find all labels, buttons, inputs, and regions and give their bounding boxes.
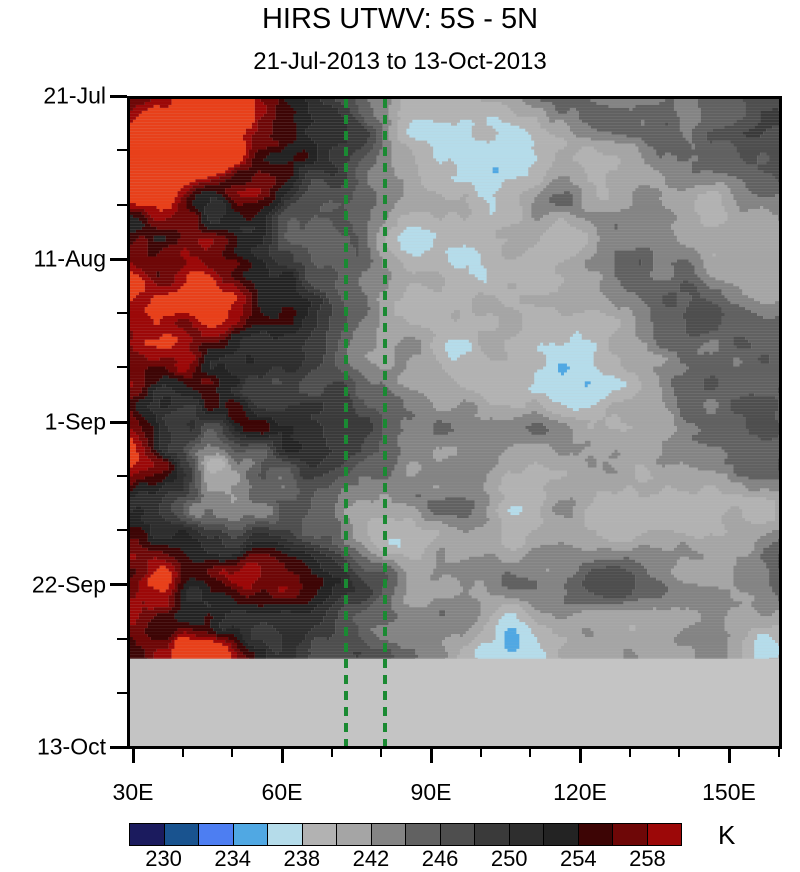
x-minor-tick bbox=[480, 749, 482, 757]
colorbar-swatch bbox=[233, 824, 268, 845]
colorbar-swatch bbox=[130, 824, 164, 845]
y-minor-tick bbox=[117, 204, 127, 206]
x-minor-tick bbox=[629, 749, 631, 757]
colorbar-swatch bbox=[440, 824, 475, 845]
colorbar[interactable] bbox=[129, 823, 682, 846]
y-tick-label-3: 22-Sep bbox=[0, 572, 106, 599]
y-major-tick bbox=[110, 583, 127, 586]
colorbar-swatch bbox=[612, 824, 647, 845]
colorbar-swatch bbox=[474, 824, 509, 845]
colorbar-tick-label: 246 bbox=[422, 846, 459, 872]
chart-subtitle: 21-Jul-2013 to 13-Oct-2013 bbox=[0, 48, 800, 76]
colorbar-swatch bbox=[302, 824, 337, 845]
x-tick-label-3: 120E bbox=[553, 779, 607, 806]
chart-figure: HIRS UTWV: 5S - 5N 21-Jul-2013 to 13-Oct… bbox=[0, 0, 800, 863]
colorbar-swatch bbox=[198, 824, 233, 845]
annotation-vline-2 bbox=[383, 99, 387, 746]
x-minor-tick bbox=[231, 749, 233, 757]
chart-title: HIRS UTWV: 5S - 5N bbox=[0, 3, 800, 36]
colorbar-swatch bbox=[405, 824, 440, 845]
x-major-tick bbox=[728, 749, 731, 763]
colorbar-swatch bbox=[509, 824, 544, 845]
contour-field bbox=[130, 99, 779, 746]
x-tick-label-0: 30E bbox=[113, 779, 154, 806]
y-major-tick bbox=[110, 421, 127, 424]
x-tick-label-2: 90E bbox=[411, 779, 452, 806]
y-tick-label-1: 11-Aug bbox=[0, 246, 106, 273]
y-minor-tick bbox=[117, 366, 127, 368]
x-minor-tick bbox=[529, 749, 531, 757]
y-major-tick bbox=[110, 258, 127, 261]
y-major-tick bbox=[110, 95, 127, 98]
y-minor-tick bbox=[117, 529, 127, 531]
x-major-tick bbox=[430, 749, 433, 763]
colorbar-swatch bbox=[543, 824, 578, 845]
colorbar-tick-label: 234 bbox=[214, 846, 251, 872]
x-minor-tick bbox=[778, 749, 780, 757]
colorbar-swatch bbox=[578, 824, 613, 845]
x-minor-tick bbox=[678, 749, 680, 757]
colorbar-unit-label: K bbox=[718, 820, 735, 851]
colorbar-swatch bbox=[267, 824, 302, 845]
y-minor-tick bbox=[117, 149, 127, 151]
x-minor-tick bbox=[331, 749, 333, 757]
plot-area[interactable] bbox=[127, 96, 782, 749]
x-major-tick bbox=[579, 749, 582, 763]
y-major-tick bbox=[110, 746, 127, 749]
x-major-tick bbox=[132, 749, 135, 763]
y-minor-tick bbox=[117, 312, 127, 314]
colorbar-tick-label: 242 bbox=[353, 846, 390, 872]
colorbar-swatch bbox=[371, 824, 406, 845]
x-minor-tick bbox=[182, 749, 184, 757]
colorbar-tick-label: 238 bbox=[283, 846, 320, 872]
colorbar-swatch bbox=[647, 824, 682, 845]
y-tick-label-4: 13-Oct bbox=[0, 734, 106, 761]
colorbar-tick-label: 230 bbox=[145, 846, 182, 872]
y-minor-tick bbox=[117, 475, 127, 477]
colorbar-tick-label: 250 bbox=[491, 846, 528, 872]
x-tick-label-1: 60E bbox=[262, 779, 303, 806]
colorbar-swatch bbox=[164, 824, 199, 845]
colorbar-tick-label: 254 bbox=[560, 846, 597, 872]
colorbar-tick-label: 258 bbox=[629, 846, 666, 872]
x-major-tick bbox=[281, 749, 284, 763]
annotation-vline-1 bbox=[344, 99, 348, 746]
y-tick-label-2: 1-Sep bbox=[0, 409, 106, 436]
colorbar-swatch bbox=[336, 824, 371, 845]
y-minor-tick bbox=[117, 692, 127, 694]
x-minor-tick bbox=[380, 749, 382, 757]
x-tick-label-4: 150E bbox=[702, 779, 756, 806]
y-tick-label-0: 21-Jul bbox=[0, 83, 106, 110]
y-minor-tick bbox=[117, 638, 127, 640]
